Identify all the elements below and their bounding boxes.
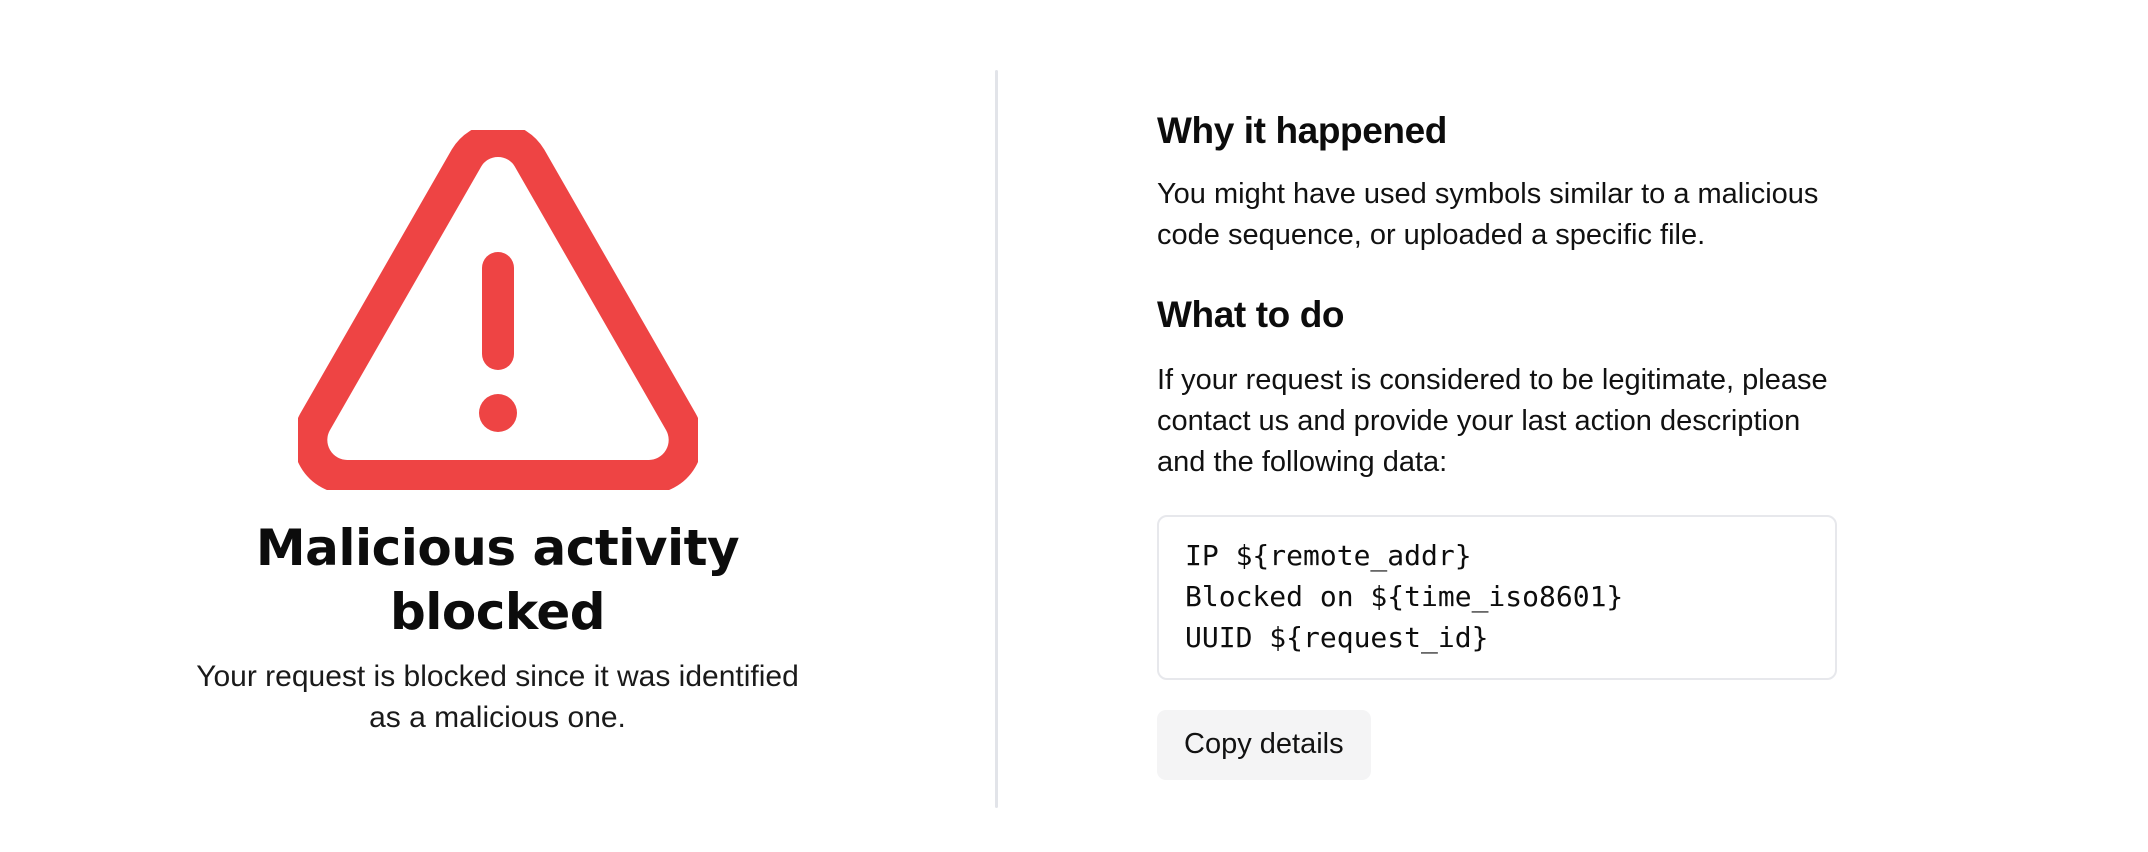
page-title-line-1: Malicious activity	[256, 519, 739, 577]
page-title: Malicious activity blocked	[178, 516, 818, 644]
error-page: Malicious activity blocked Your request …	[0, 0, 2148, 852]
detail-line-uuid: UUID ${request_id}	[1185, 617, 1809, 658]
copy-details-button[interactable]: Copy details	[1157, 710, 1371, 780]
warning-triangle-icon	[298, 130, 698, 490]
section-body-what-to-do: If your request is considered to be legi…	[1157, 360, 1829, 483]
right-panel: Why it happened You might have used symb…	[1157, 108, 1857, 780]
section-body-why-it-happened: You might have used symbols similar to a…	[1157, 174, 1829, 256]
section-heading-why-it-happened: Why it happened	[1157, 108, 1857, 154]
request-details-box: IP ${remote_addr} Blocked on ${time_iso8…	[1157, 515, 1837, 680]
page-subtitle: Your request is blocked since it was ide…	[188, 656, 808, 738]
left-panel: Malicious activity blocked Your request …	[0, 0, 995, 852]
section-heading-what-to-do: What to do	[1157, 292, 1857, 338]
page-title-line-2: blocked	[390, 583, 605, 641]
detail-line-blocked-on: Blocked on ${time_iso8601}	[1185, 576, 1809, 617]
vertical-divider	[995, 70, 998, 808]
detail-line-ip: IP ${remote_addr}	[1185, 535, 1809, 576]
